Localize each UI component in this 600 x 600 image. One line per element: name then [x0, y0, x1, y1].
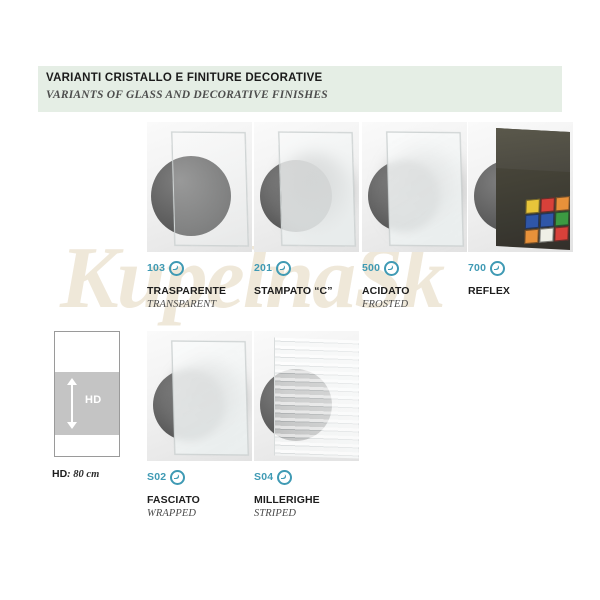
finish-card-500[interactable]: 500 ACIDATO FROSTED: [362, 122, 467, 310]
finish-subtitle: STRIPED: [254, 508, 359, 519]
cube-tile: [539, 227, 553, 242]
cube-tile: [524, 229, 538, 244]
glass-pane: [278, 132, 355, 247]
glass-finish-icon: [384, 261, 399, 276]
finish-card-S02[interactable]: S02 FASCIATO WRAPPED: [147, 331, 252, 519]
finish-code-row: 700: [468, 261, 573, 276]
glass-pane: [171, 341, 248, 456]
finish-code: 201: [254, 263, 272, 274]
finish-subtitle: FROSTED: [362, 299, 467, 310]
finish-code-row: 500: [362, 261, 467, 276]
finish-subtitle: TRANSPARENT: [147, 299, 252, 310]
glass-pane: [386, 132, 463, 247]
glass-finish-icon: [277, 470, 292, 485]
finish-code-row: S02: [147, 470, 252, 485]
glass-finish-icon: [170, 470, 185, 485]
bronze-pane-highlight: [496, 128, 570, 172]
finish-code: 103: [147, 263, 165, 274]
finish-code: S02: [147, 472, 166, 483]
finish-name: MILLERIGHE: [254, 494, 359, 506]
finish-code-row: 201: [254, 261, 359, 276]
finish-name: ACIDATO: [362, 285, 467, 297]
glass-pane: [171, 132, 248, 247]
finish-card-201[interactable]: 201 STAMPATO “C”: [254, 122, 359, 299]
cube-tile: [555, 211, 569, 226]
finish-code-row: S04: [254, 470, 359, 485]
finish-code: S04: [254, 472, 273, 483]
finish-sample-image-700: [468, 122, 573, 252]
striped-glass-veil: [274, 338, 358, 459]
finish-name: TRASPARENTE: [147, 285, 252, 297]
cube-tile: [554, 226, 568, 241]
glass-finish-icon: [276, 261, 291, 276]
finish-code-row: 103: [147, 261, 252, 276]
finish-subtitle: WRAPPED: [147, 508, 252, 519]
catalog-page: KupelnaSk VARIANTI CRISTALLO E FINITURE …: [0, 0, 600, 600]
finish-sample-image-S04: [254, 331, 359, 461]
cube-tile: [525, 199, 539, 214]
finish-name: FASCIATO: [147, 494, 252, 506]
finish-card-S04[interactable]: S04 MILLERIGHE STRIPED: [254, 331, 359, 519]
finish-sample-image-S02: [147, 331, 252, 461]
cube-tile: [540, 212, 554, 227]
finish-name: REFLEX: [468, 285, 573, 297]
finish-code: 500: [362, 263, 380, 274]
glass-finish-icon: [169, 261, 184, 276]
finish-card-103[interactable]: 103 TRASPARENTE TRANSPARENT: [147, 122, 252, 310]
finish-code: 700: [468, 263, 486, 274]
finish-sample-image-103: [147, 122, 252, 252]
cube-tile: [525, 214, 539, 229]
finish-sample-image-201: [254, 122, 359, 252]
finish-sample-image-500: [362, 122, 467, 252]
finish-card-700[interactable]: 700 REFLEX: [468, 122, 573, 299]
finish-name: STAMPATO “C”: [254, 285, 359, 297]
cube-tile: [540, 197, 554, 212]
finish-grid: 103 TRASPARENTE TRANSPARENT 201 STAMPATO…: [0, 0, 600, 600]
rubik-cube-icon: [524, 196, 572, 250]
glass-finish-icon: [490, 261, 505, 276]
cube-tile: [555, 196, 569, 211]
